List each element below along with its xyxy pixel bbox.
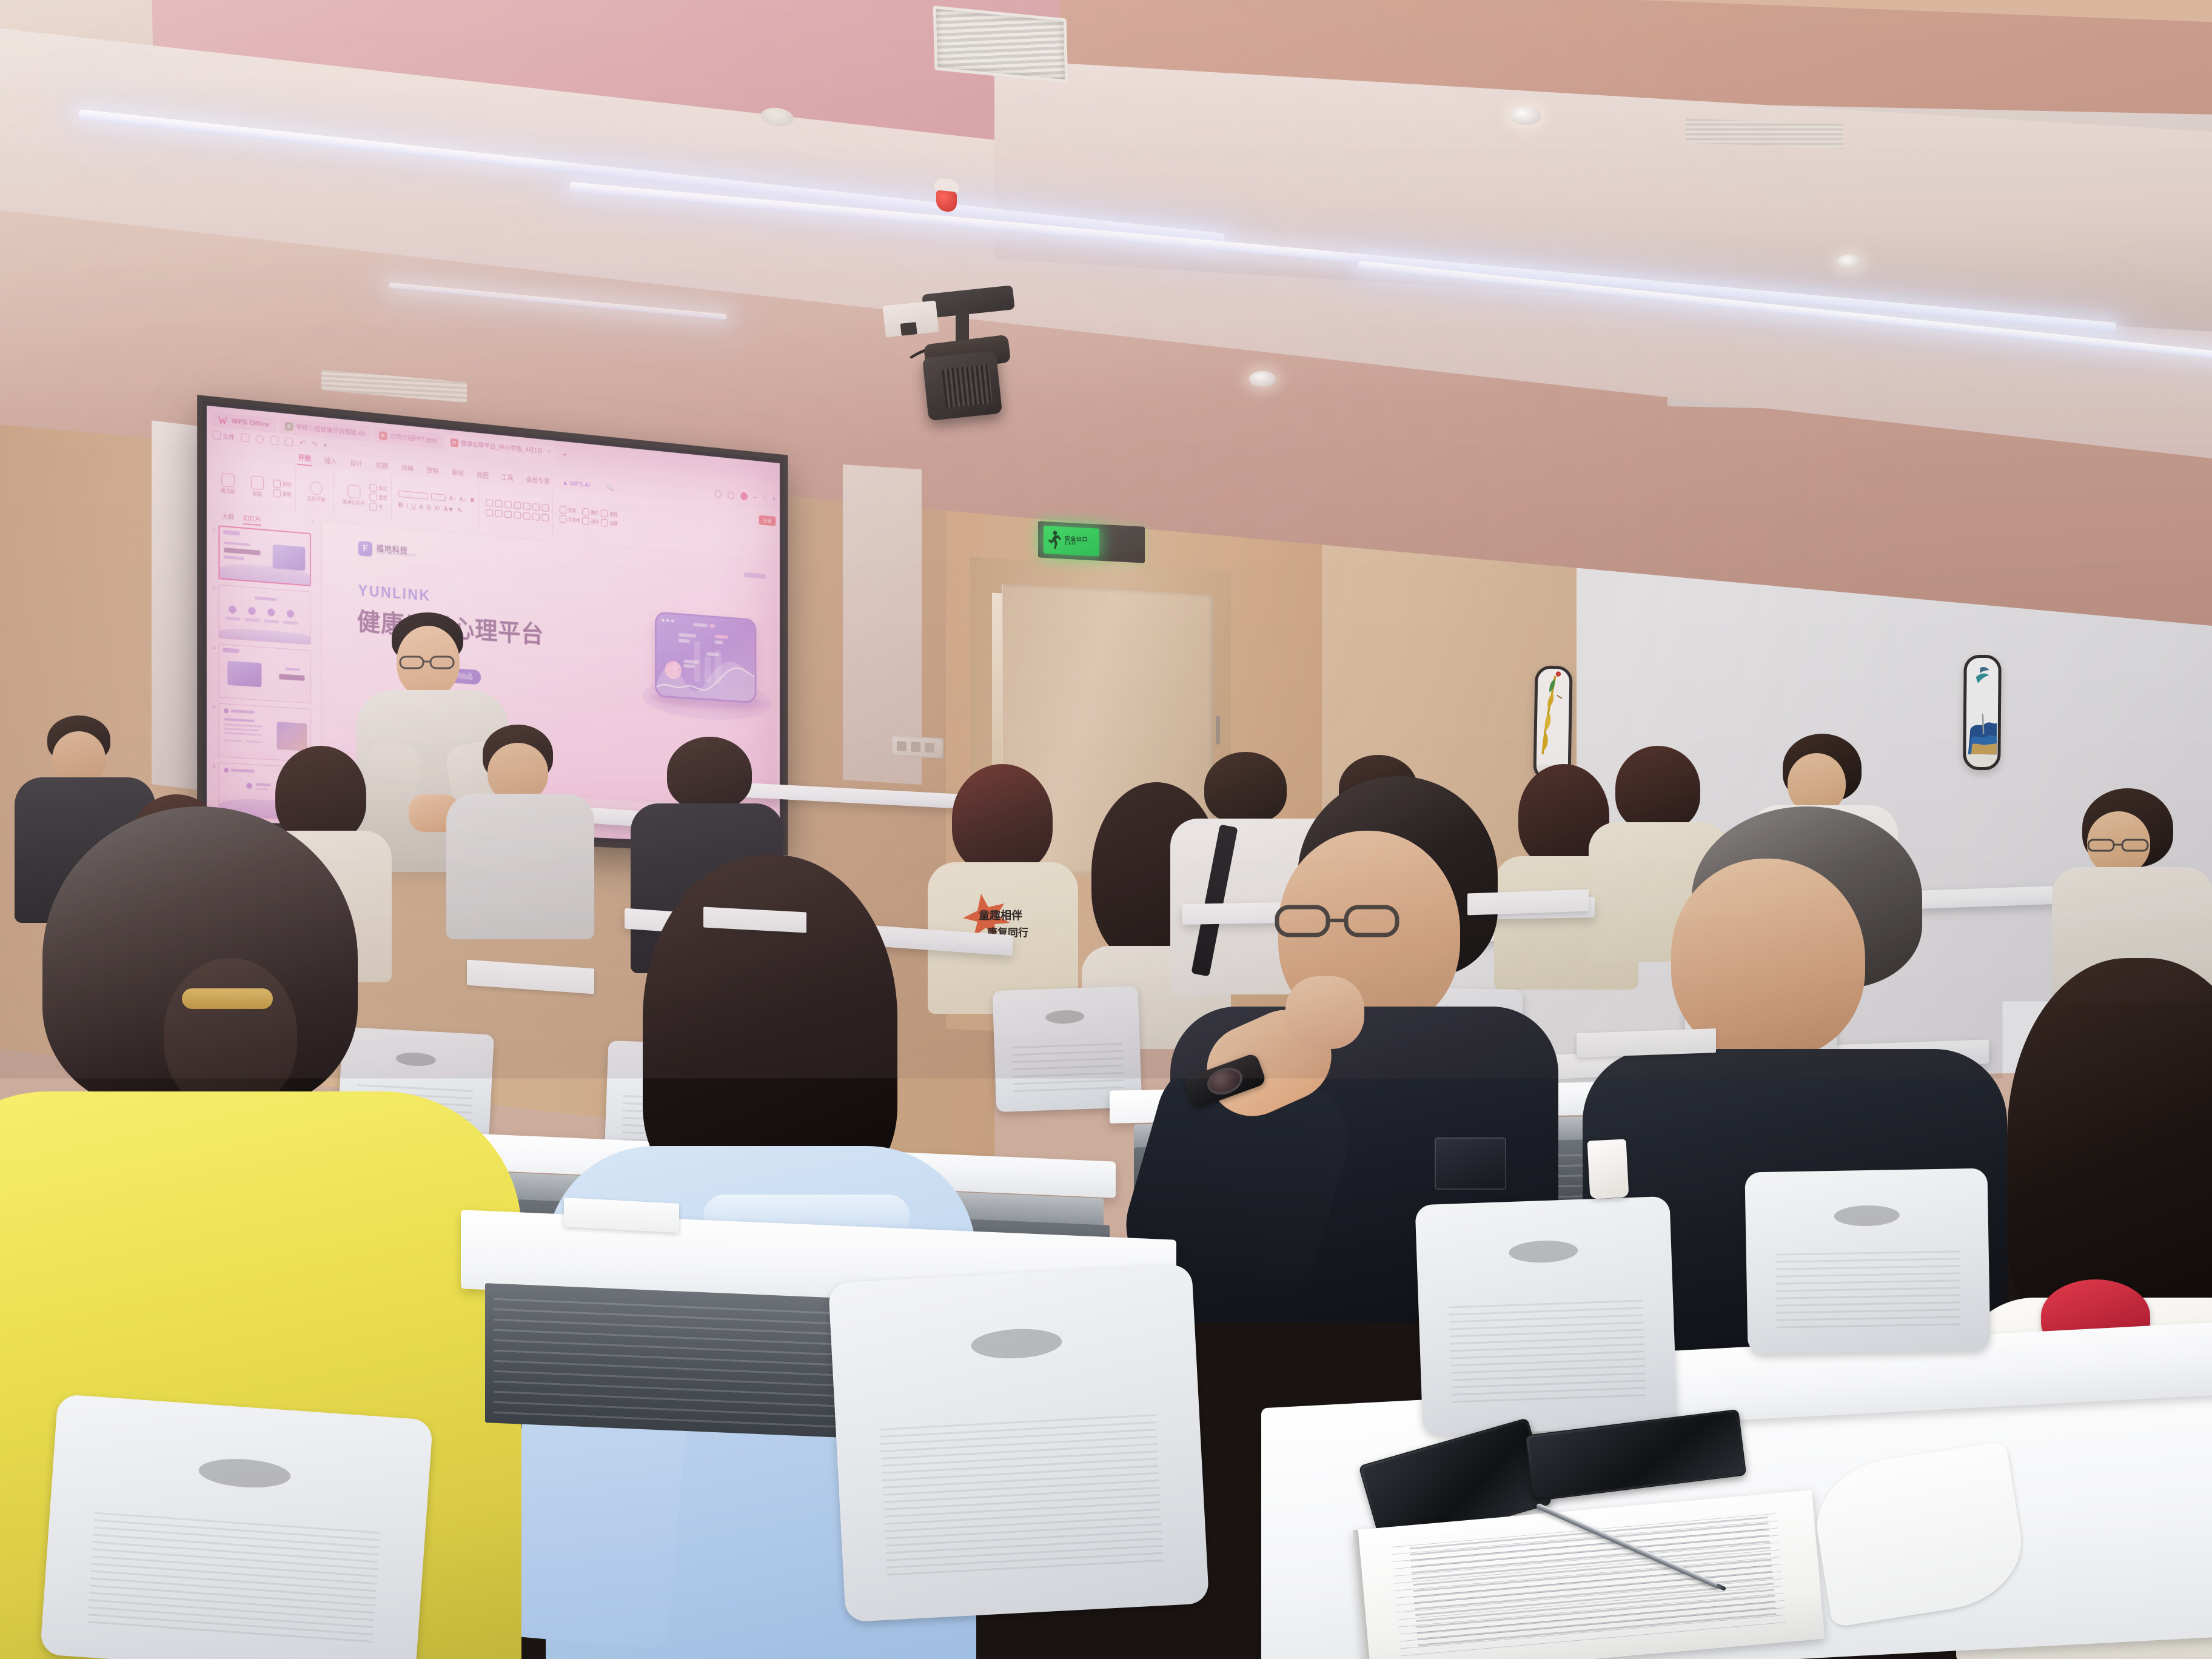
- shape-icon: [560, 506, 567, 514]
- justify-icon[interactable]: [514, 511, 521, 519]
- ribbon-group-play: 当页开始: [299, 467, 334, 517]
- increase-font-icon[interactable]: A↑: [449, 495, 456, 503]
- comment-icon[interactable]: [715, 490, 722, 498]
- new-slide-label: 新建幻灯片: [343, 498, 366, 506]
- minimize-button[interactable]: –: [754, 494, 757, 501]
- cup-icon[interactable]: [1587, 1139, 1629, 1199]
- ai-sparkle-icon: ▲: [562, 479, 568, 486]
- slide-number: 3: [210, 643, 216, 651]
- play-icon: [310, 481, 323, 495]
- smartart-icon[interactable]: [541, 504, 549, 512]
- bullets-icon[interactable]: [486, 498, 493, 506]
- tab-transitions[interactable]: 切换: [375, 459, 389, 473]
- exit-sign-label-en: EXIT: [1065, 541, 1088, 547]
- slide-number: 4: [210, 703, 216, 710]
- align-right-icon[interactable]: [504, 511, 512, 518]
- chair[interactable]: [40, 1394, 433, 1659]
- exit-sign: 安全出口 EXIT: [1038, 521, 1145, 563]
- shoulder-patch: [1435, 1138, 1506, 1190]
- share-button[interactable]: 分享: [759, 515, 776, 526]
- save-icon[interactable]: [241, 433, 249, 442]
- clear-format-icon[interactable]: ✖: [470, 497, 475, 504]
- new-slide-icon: [348, 484, 361, 498]
- tab-slideshow[interactable]: 放映: [426, 464, 440, 478]
- textbox-label: 文本框: [568, 516, 580, 523]
- reset-button[interactable]: 重置: [369, 493, 387, 502]
- find-button[interactable]: 查找: [601, 509, 617, 518]
- font-size-select[interactable]: [431, 494, 446, 501]
- picture-label: 图片: [591, 509, 599, 516]
- section-icon: [369, 502, 377, 511]
- door-handle[interactable]: [1216, 716, 1220, 745]
- section-label: 节: [378, 504, 383, 511]
- select-label: 选择: [609, 520, 617, 527]
- avatar[interactable]: [740, 492, 748, 500]
- format-painter-button[interactable]: 格式刷: [215, 472, 242, 495]
- format-painter-icon: [221, 472, 234, 487]
- slide-number: 1: [210, 525, 216, 532]
- file-menu-label: 文件: [223, 431, 234, 441]
- tab-insert[interactable]: 插入: [323, 454, 338, 468]
- hand: [1285, 976, 1364, 1049]
- picture-icon: [582, 508, 589, 515]
- list-item[interactable]: 2: [210, 584, 318, 645]
- hair-bun: [164, 958, 297, 1110]
- socket-icon: [891, 736, 943, 759]
- align-center-icon[interactable]: [495, 509, 503, 517]
- ribbon-group-font: A↑ A↓ ✖ B I U A S X² A▼ ✎: [395, 476, 480, 529]
- vent-icon: [933, 5, 1068, 83]
- shape-button[interactable]: 形状: [560, 506, 580, 515]
- paste-icon: [251, 475, 264, 490]
- undo-icon[interactable]: ↶: [300, 439, 306, 448]
- ribbon-group-clipboard: 格式刷 粘贴 剪切 复制: [210, 458, 296, 513]
- reset-label: 重置: [378, 494, 387, 501]
- arrange-label: 排列: [591, 518, 599, 525]
- paper-icon[interactable]: [1467, 890, 1589, 916]
- redo-icon[interactable]: ↷: [312, 440, 318, 449]
- font-family-select[interactable]: [398, 491, 427, 500]
- copy-icon: [273, 489, 281, 497]
- reset-icon: [369, 493, 377, 501]
- select-button[interactable]: 选择: [601, 518, 617, 528]
- cut-icon: [273, 479, 281, 488]
- paste-button[interactable]: 粘贴: [244, 475, 270, 498]
- list-item[interactable]: 3: [210, 643, 318, 704]
- alarm-bell-icon: [934, 178, 959, 213]
- text-effects-button[interactable]: A: [419, 503, 423, 511]
- search-icon[interactable]: 🔍: [606, 483, 614, 491]
- text-direction-icon[interactable]: [532, 503, 540, 511]
- tab-tools[interactable]: 工具: [500, 471, 514, 484]
- play-label: 当页开始: [307, 495, 325, 503]
- close-icon[interactable]: ×: [773, 495, 776, 503]
- slide-corner-badge: [744, 572, 765, 579]
- downlight-icon: [1249, 371, 1276, 387]
- svg-text:童趣相伴: 童趣相伴: [979, 909, 1022, 922]
- italic-button[interactable]: I: [406, 502, 408, 509]
- ribbon-group-drawing: 形状 文本框 图片 排列: [556, 491, 622, 542]
- arrange-icon: [582, 517, 589, 525]
- classroom-scene: WPS Office S 学校心理健康评估模板.xls P 公司介绍PPT.pp…: [0, 0, 2212, 1659]
- wps-ai-button[interactable]: ▲ WPS AI: [561, 478, 591, 491]
- decrease-indent-icon[interactable]: [504, 500, 512, 508]
- projector-icon: [891, 290, 1019, 423]
- hair-tie: [182, 988, 273, 1009]
- picture-button[interactable]: 图片: [582, 508, 598, 517]
- slide-number: 2: [210, 584, 216, 591]
- layout-button[interactable]: 版式: [369, 483, 387, 492]
- arrange-button[interactable]: 排列: [582, 517, 598, 526]
- wps-logo-icon: [218, 415, 229, 426]
- chair[interactable]: [828, 1264, 1209, 1623]
- select-icon: [601, 518, 608, 526]
- increase-indent-icon[interactable]: [514, 501, 521, 509]
- slide-number: 5: [210, 762, 216, 769]
- spreadsheet-icon: S: [285, 421, 293, 431]
- tab-review[interactable]: 审阅: [451, 466, 465, 480]
- fudi-logo-icon: F: [358, 541, 372, 557]
- presentation-icon: P: [451, 438, 458, 447]
- paper-icon[interactable]: [564, 1198, 679, 1233]
- slide-thumbnail-1[interactable]: [218, 525, 310, 586]
- superscript-icon[interactable]: X²: [434, 504, 440, 512]
- wps-logo-label: WPS Office: [232, 417, 270, 428]
- find-label: 查找: [609, 511, 617, 518]
- ribbon-group-slides: 新建幻灯片 版式 重置 节: [337, 471, 392, 521]
- line-spacing-icon[interactable]: [523, 502, 531, 510]
- wps-tab-label: 公司介绍PPT.pptx: [390, 432, 437, 445]
- chair[interactable]: [1744, 1168, 1990, 1355]
- align-left-icon[interactable]: [486, 509, 493, 517]
- running-man-icon: [1047, 529, 1062, 551]
- tab-member[interactable]: 会员专享: [525, 473, 551, 488]
- scroll-art-right: [1963, 655, 2002, 771]
- file-menu-button[interactable]: 文件: [213, 430, 235, 441]
- play-from-current-button[interactable]: 当页开始: [303, 480, 330, 503]
- print-icon[interactable]: [270, 436, 278, 445]
- ribbon-group-paragraph: [482, 484, 553, 535]
- new-slide-button[interactable]: 新建幻灯片: [341, 484, 367, 507]
- decrease-font-icon[interactable]: A↓: [460, 495, 467, 503]
- maximize-button[interactable]: □: [763, 495, 766, 502]
- layout-icon: [369, 483, 377, 492]
- tab-outline[interactable]: 大纲: [222, 511, 233, 524]
- tab-design[interactable]: 设计: [349, 457, 364, 471]
- paper-icon[interactable]: [1577, 1028, 1716, 1057]
- tab-slides[interactable]: 幻灯片: [243, 513, 261, 526]
- section-button[interactable]: 节: [369, 502, 387, 511]
- chevron-down-icon[interactable]: ▾: [324, 442, 327, 449]
- downlight-icon: [1837, 255, 1862, 269]
- shape-label: 形状: [568, 507, 576, 514]
- textbox-button[interactable]: 文本框: [560, 515, 580, 524]
- find-icon: [601, 509, 608, 517]
- list-item[interactable]: 1: [210, 525, 318, 587]
- menu-icon: [213, 431, 221, 440]
- tab-view[interactable]: 视图: [475, 469, 490, 482]
- chevron-left-icon[interactable]: ‹: [312, 519, 318, 531]
- numbering-icon[interactable]: [495, 500, 503, 508]
- layout-label: 版式: [378, 484, 387, 492]
- align-text-icon[interactable]: [541, 514, 549, 521]
- textbox-icon: [560, 515, 567, 523]
- cut-label: 剪切: [283, 481, 291, 488]
- presentation-icon: P: [379, 431, 387, 440]
- print-preview-icon[interactable]: [285, 437, 293, 446]
- gear-icon[interactable]: [728, 491, 734, 499]
- paste-label: 粘贴: [253, 490, 262, 497]
- dashboard-monitor-illustration: [655, 611, 756, 703]
- bold-button[interactable]: B: [398, 501, 403, 509]
- tab-animations[interactable]: 动画: [400, 461, 415, 475]
- new-tab-button[interactable]: +: [558, 447, 571, 462]
- columns-icon[interactable]: [532, 513, 540, 521]
- format-painter-label: 格式刷: [221, 487, 235, 495]
- slide-thumbnail-3[interactable]: [218, 644, 310, 703]
- close-icon[interactable]: ×: [548, 449, 551, 455]
- copy-label: 复制: [283, 491, 291, 498]
- chair[interactable]: [1415, 1196, 1677, 1435]
- strikethrough-button[interactable]: S: [427, 504, 431, 511]
- wps-ai-label: WPS AI: [570, 480, 591, 489]
- underline-button[interactable]: U: [411, 503, 415, 510]
- brand-logo: F 福地科技 FUDI TECHNOLOGY: [358, 541, 417, 560]
- font-color-icon[interactable]: A▼: [444, 505, 454, 513]
- cloud-icon[interactable]: [256, 435, 264, 444]
- cut-button[interactable]: 剪切: [273, 479, 292, 489]
- copy-button[interactable]: 复制: [273, 489, 292, 498]
- highlight-icon[interactable]: ✎: [457, 506, 462, 514]
- slide-thumbnail-2[interactable]: [218, 585, 310, 645]
- tab-start[interactable]: 开始: [297, 451, 312, 466]
- distribute-icon[interactable]: [523, 512, 531, 520]
